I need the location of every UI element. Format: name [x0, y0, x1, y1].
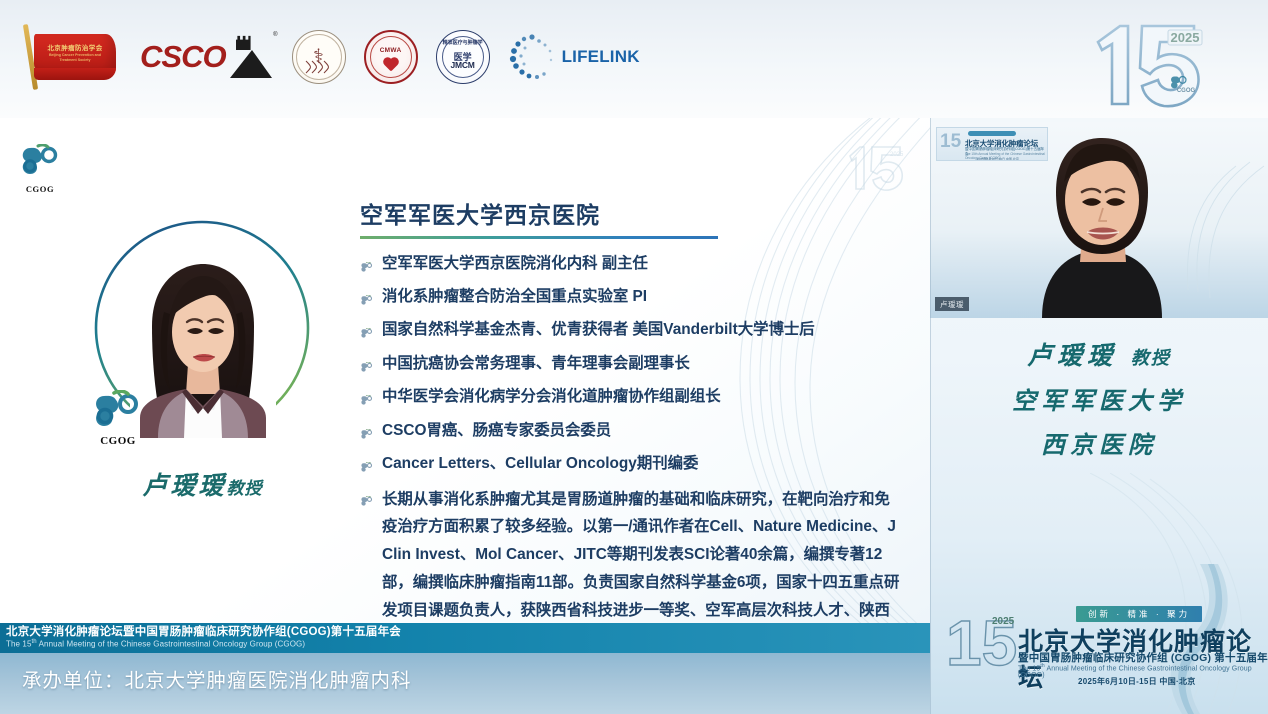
cgog-bullet-icon — [360, 323, 373, 348]
beijing-cancer-prevention-society-logo: 北京肿瘤防治学会 Beijing Cancer Prevention and T… — [14, 26, 122, 88]
cgog-bullet-icon — [360, 491, 373, 516]
host-organization-text: 承办单位：北京大学肿瘤医院消化肿瘤内科 — [22, 664, 412, 693]
dna-icon — [304, 60, 334, 74]
speaker-name-line: 卢瑷瑷 教授 — [930, 336, 1268, 372]
cgog-badge-label: CGOG — [90, 435, 146, 447]
cmwa-seal: CMWA — [364, 24, 418, 90]
speaker-portrait-block: CGOG 卢瑷瑷教授 — [70, 218, 335, 518]
cmwa-label: CMWA — [366, 47, 416, 54]
credential-item: 国家自然科学基金杰青、优青获得者 美国Vanderbilt大学博士后 — [360, 318, 905, 348]
credential-item: CSCO胃癌、肠癌专家委员会委员 — [360, 419, 905, 449]
portrait-name-text: 卢瑷瑷 — [142, 471, 226, 500]
cgog-bullet-icon — [360, 357, 373, 382]
speaker-rank: 教授 — [1131, 348, 1171, 369]
cgog-badge: CGOG — [90, 390, 146, 447]
slide-watermark-year: 2025 — [890, 152, 904, 158]
credential-item: 长期从事消化系肿瘤尤其是胃肠道肿瘤的基础和临床研究，在靶向治疗和免疫治疗方面积累… — [360, 486, 905, 623]
banner-pill — [968, 131, 1016, 136]
cgog-bullet-icon — [360, 457, 373, 482]
credentials-list: 空军军医大学西京医院消化内科 副主任消化系肿瘤整合防治全国重点实验室 PI国家自… — [360, 252, 905, 624]
cgog-icon — [18, 144, 62, 178]
emblem-cgog-label: CGOG — [1177, 88, 1196, 94]
credential-item: 空军军医大学西京医院消化内科 副主任 — [360, 252, 905, 282]
speaker-affiliation-line2: 西京医院 — [930, 425, 1268, 460]
sponsor-logo-bar: 北京肿瘤防治学会 Beijing Cancer Prevention and T… — [0, 0, 1268, 118]
video-overlay-banner: 15 北京大学消化肿瘤论坛 暨中国胃肠肿瘤临床研究协作组(CGOG)第十五届年会… — [936, 127, 1048, 161]
sponsor-logo-row: 北京肿瘤防治学会 Beijing Cancer Prevention and T… — [14, 24, 640, 90]
cgog-bullet-icon — [360, 390, 373, 415]
speaker-video-tile[interactable]: 15 北京大学消化肿瘤论坛 暨中国胃肠肿瘤临床研究协作组(CGOG)第十五届年会… — [930, 122, 1268, 318]
conference-title-en: The 15th Annual Meeting of the Chinese G… — [6, 639, 930, 650]
speaker-affiliation-line1: 空军军医大学 — [930, 381, 1268, 416]
cgog-bullet-icon — [360, 257, 373, 282]
presentation-slide[interactable]: 2025 CGOG — [0, 118, 930, 623]
banner-date: 2025年6月10日-15日 中国·北京 — [977, 157, 1019, 161]
jmcm-label: JMCM — [437, 60, 489, 70]
cgog-logo-slide: CGOG — [18, 144, 62, 194]
portrait-rank-text: 教授 — [227, 479, 263, 499]
speaker-name-block: 卢瑷瑷 教授 空军军医大学 西京医院 — [930, 336, 1268, 460]
cgog-bullet-icon — [360, 290, 373, 315]
credential-text: Cancer Letters、Cellular Oncology期刊编委 — [382, 452, 905, 477]
cgog-bullet-icon — [360, 424, 373, 449]
conference-logo-year: 2025 — [992, 616, 1014, 627]
credential-text: 中国抗癌协会常务理事、青年理事会副理事长 — [382, 352, 905, 377]
jmcm-seal: 精准医疗与肿瘤学 医学 JMCM — [436, 24, 490, 90]
credential-text: 长期从事消化系肿瘤尤其是胃肠道肿瘤的基础和临床研究，在靶向治疗和免疫治疗方面积累… — [382, 486, 905, 623]
credential-text: 空军军医大学西京医院消化内科 副主任 — [382, 252, 905, 277]
credential-text: 中华医学会消化病学分会消化道肿瘤协作组副组长 — [382, 385, 905, 410]
conference-title-cn: 北京大学消化肿瘤论坛暨中国胃肠肿瘤临床研究协作组(CGOG)第十五届年会 — [6, 626, 930, 639]
host-organization-band: 承办单位：北京大学肿瘤医院消化肿瘤内科 — [0, 653, 930, 714]
cgog-icon — [90, 390, 146, 430]
video-nametag: 卢瑷瑷 — [935, 297, 969, 311]
lifelink-logo: LIFELINK — [508, 24, 640, 90]
lifelink-wordmark: LIFELINK — [562, 47, 640, 67]
portrait-speaker-name: 卢瑷瑷教授 — [70, 466, 335, 502]
slide-content: 空军军医大学西京医院 空军军医大学西京医院消化内科 副主任消化系肿瘤整合防治全国… — [360, 196, 905, 623]
anniversary-emblem-15: 2025 CGOG — [1082, 16, 1222, 112]
flag-logo-label: 北京肿瘤防治学会 Beijing Cancer Prevention and T… — [40, 45, 110, 62]
csco-wordmark: CSCO — [140, 39, 226, 75]
credential-text: 国家自然科学基金杰青、优青获得者 美国Vanderbilt大学博士后 — [382, 318, 905, 343]
dot-swirl-icon — [508, 32, 558, 82]
credential-text: 消化系肿瘤整合防治全国重点实验室 PI — [382, 285, 905, 310]
emblem-year: 2025 — [1171, 30, 1200, 45]
credential-item: 中华医学会消化病学分会消化道肿瘤协作组副组长 — [360, 385, 905, 415]
slide-title: 空军军医大学西京医院 — [360, 196, 905, 236]
credential-text: CSCO胃癌、肠癌专家委员会委员 — [382, 419, 905, 444]
title-underline — [360, 236, 718, 239]
banner-number: 15 — [940, 132, 961, 151]
speaker-photo — [130, 256, 276, 438]
credential-item: Cancer Letters、Cellular Oncology期刊编委 — [360, 452, 905, 482]
credential-item: 消化系肿瘤整合防治全国重点实验室 PI — [360, 285, 905, 315]
chinese-gastrointestinal-oncology-seal: ⚕ — [292, 24, 346, 90]
cgog-logo-label: CGOG — [18, 184, 62, 194]
conference-slogan: 创新 · 精准 · 聚力 — [1076, 606, 1202, 622]
conference-logo-date: 2025年6月10日-15日 中国·北京 — [1078, 676, 1196, 687]
speaker-name: 卢瑷瑷 — [1027, 341, 1117, 370]
registered-mark: ® — [273, 32, 277, 38]
credential-item: 中国抗癌协会常务理事、青年理事会副理事长 — [360, 352, 905, 382]
heart-in-hands-icon — [382, 58, 399, 73]
conference-title-band: 北京大学消化肿瘤论坛暨中国胃肠肿瘤临床研究协作组(CGOG)第十五届年会 The… — [0, 623, 930, 653]
screen-root: 天汉方舟·法母大学天汉方舟·法母大学天汉方舟·法母大学天汉方舟·法母大学天汉方舟… — [0, 0, 1268, 714]
csco-logo: CSCO ® — [140, 24, 274, 90]
panel-divider — [930, 118, 931, 714]
speaker-side-panel: 15 北京大学消化肿瘤论坛 暨中国胃肠肿瘤临床研究协作组(CGOG)第十五届年会… — [930, 118, 1268, 714]
slide-watermark-15: 2025 — [842, 140, 912, 194]
jmcm-chinese-label: 精准医疗与肿瘤学 — [437, 39, 489, 46]
conference-logo-block: 创新 · 精准 · 聚力 15 2025 北京大学消化肿瘤论坛 暨中国胃肠肿瘤临… — [930, 564, 1268, 714]
great-wall-icon: ® — [222, 34, 274, 80]
